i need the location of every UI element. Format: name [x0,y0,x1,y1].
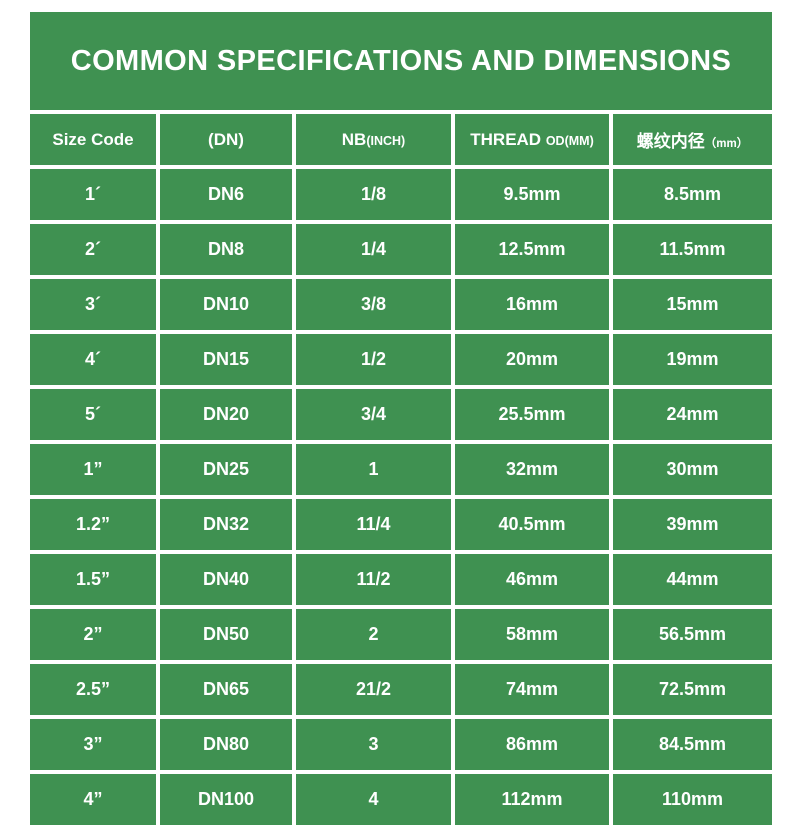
cell-nb: 2 [296,605,455,660]
table-row: 3” DN80 3 86mm 84.5mm [30,715,772,770]
column-header-nb-main: NB [342,130,367,149]
cell-nb: 4 [296,770,455,825]
cell-thread-od: 112mm [455,770,613,825]
cell-dn: DN8 [160,220,296,275]
column-header-dn: (DN) [160,110,296,165]
table-row: 5´ DN20 3/4 25.5mm 24mm [30,385,772,440]
cell-size-code: 2´ [30,220,160,275]
table-row: 2” DN50 2 58mm 56.5mm [30,605,772,660]
cell-dn: DN40 [160,550,296,605]
cell-dn: DN20 [160,385,296,440]
cell-thread-id: 19mm [613,330,772,385]
cell-nb: 1/8 [296,165,455,220]
cell-thread-id: 110mm [613,770,772,825]
cell-thread-id: 72.5mm [613,660,772,715]
green-panel: COMMON SPECIFICATIONS AND DIMENSIONS Siz… [30,12,772,778]
cell-dn: DN80 [160,715,296,770]
cell-thread-od: 12.5mm [455,220,613,275]
column-header-thread-id: 螺纹内径（mm） [613,110,772,165]
cell-nb: 1/2 [296,330,455,385]
cell-size-code: 3´ [30,275,160,330]
cell-nb: 3/4 [296,385,455,440]
table-header-row: Size Code (DN) NB(INCH) THREAD OD(MM) 螺纹… [30,110,772,165]
cell-nb: 11/2 [296,550,455,605]
table-body: 1´ DN6 1/8 9.5mm 8.5mm 2´ DN8 1/4 12.5mm… [30,165,772,825]
cell-thread-od: 58mm [455,605,613,660]
cell-thread-od: 16mm [455,275,613,330]
page-title: COMMON SPECIFICATIONS AND DIMENSIONS [71,45,731,78]
cell-dn: DN15 [160,330,296,385]
column-header-thread-od-main: THREAD [470,130,541,149]
column-header-thread-id-sub: （mm） [705,138,748,150]
cell-dn: DN65 [160,660,296,715]
column-header-size-code-main: Size Code [52,130,133,149]
cell-dn: DN25 [160,440,296,495]
cell-nb: 3 [296,715,455,770]
table-row: 1” DN25 1 32mm 30mm [30,440,772,495]
cell-dn: DN6 [160,165,296,220]
column-header-thread-id-main: 螺纹内径 [637,132,705,151]
cell-thread-od: 9.5mm [455,165,613,220]
table-row: 3´ DN10 3/8 16mm 15mm [30,275,772,330]
cell-dn: DN10 [160,275,296,330]
cell-thread-id: 8.5mm [613,165,772,220]
cell-thread-od: 40.5mm [455,495,613,550]
column-header-nb: NB(INCH) [296,110,455,165]
cell-nb: 21/2 [296,660,455,715]
cell-size-code: 1.5” [30,550,160,605]
cell-size-code: 4” [30,770,160,825]
cell-thread-od: 86mm [455,715,613,770]
cell-thread-od: 74mm [455,660,613,715]
cell-thread-id: 44mm [613,550,772,605]
table-row: 4” DN100 4 112mm 110mm [30,770,772,825]
column-header-thread-od-sub: OD(MM) [546,134,594,148]
cell-thread-od: 20mm [455,330,613,385]
cell-size-code: 5´ [30,385,160,440]
cell-thread-id: 39mm [613,495,772,550]
table-row: 1´ DN6 1/8 9.5mm 8.5mm [30,165,772,220]
specifications-table: Size Code (DN) NB(INCH) THREAD OD(MM) 螺纹… [30,110,772,825]
table-row: 1.2” DN32 11/4 40.5mm 39mm [30,495,772,550]
cell-thread-id: 56.5mm [613,605,772,660]
cell-nb: 1/4 [296,220,455,275]
cell-size-code: 1´ [30,165,160,220]
cell-size-code: 1.2” [30,495,160,550]
title-band: COMMON SPECIFICATIONS AND DIMENSIONS [30,12,772,110]
column-header-dn-main: (DN) [208,130,244,149]
cell-thread-od: 46mm [455,550,613,605]
column-header-nb-sub: (INCH) [366,134,405,148]
cell-dn: DN32 [160,495,296,550]
specification-sheet: COMMON SPECIFICATIONS AND DIMENSIONS Siz… [0,0,800,800]
cell-thread-id: 24mm [613,385,772,440]
cell-thread-od: 32mm [455,440,613,495]
table-row: 2´ DN8 1/4 12.5mm 11.5mm [30,220,772,275]
cell-nb: 3/8 [296,275,455,330]
cell-size-code: 3” [30,715,160,770]
table-header: Size Code (DN) NB(INCH) THREAD OD(MM) 螺纹… [30,110,772,165]
cell-size-code: 2” [30,605,160,660]
cell-nb: 1 [296,440,455,495]
cell-thread-id: 15mm [613,275,772,330]
cell-dn: DN50 [160,605,296,660]
cell-size-code: 2.5” [30,660,160,715]
cell-dn: DN100 [160,770,296,825]
cell-thread-id: 30mm [613,440,772,495]
cell-thread-id: 84.5mm [613,715,772,770]
column-header-size-code: Size Code [30,110,160,165]
cell-size-code: 4´ [30,330,160,385]
cell-nb: 11/4 [296,495,455,550]
cell-size-code: 1” [30,440,160,495]
column-header-thread-od: THREAD OD(MM) [455,110,613,165]
table-row: 4´ DN15 1/2 20mm 19mm [30,330,772,385]
table-row: 1.5” DN40 11/2 46mm 44mm [30,550,772,605]
cell-thread-id: 11.5mm [613,220,772,275]
table-row: 2.5” DN65 21/2 74mm 72.5mm [30,660,772,715]
cell-thread-od: 25.5mm [455,385,613,440]
